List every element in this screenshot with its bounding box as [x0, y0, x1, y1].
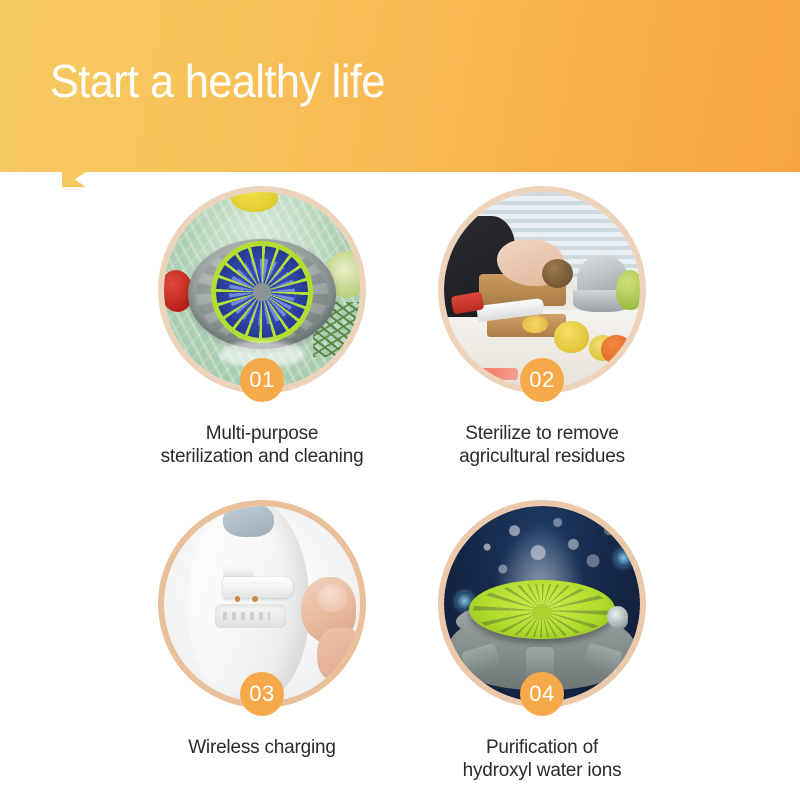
- feature-card-03[interactable]: 03 Wireless charging: [112, 500, 412, 759]
- caption-line-2: hydroxyl water ions: [392, 759, 692, 782]
- feature-caption-02: Sterilize to remove agricultural residue…: [392, 422, 692, 468]
- step-badge-02: 02: [520, 358, 564, 402]
- device-grey-cap: [223, 506, 274, 537]
- ion-particle-icon-2: [615, 549, 633, 567]
- thumbnail: [317, 584, 348, 611]
- feature-card-01[interactable]: 01 Multi-purpose sterilization and clean…: [112, 186, 412, 468]
- lemon-icon-a: [554, 321, 589, 352]
- feature-card-04[interactable]: 04 Purification of hydroxyl water ions: [392, 500, 692, 782]
- page-title: Start a healthy life: [50, 52, 385, 110]
- red-utensil: [475, 368, 518, 380]
- feature-caption-04: Purification of hydroxyl water ions: [392, 736, 692, 782]
- caption-line-1: Sterilize to remove: [465, 423, 619, 444]
- caption-line-1: Purification of: [486, 737, 598, 758]
- indicator-led: [607, 606, 629, 628]
- caption-line-2: agricultural residues: [392, 445, 692, 468]
- step-badge-03: 03: [240, 672, 284, 716]
- charging-plug: [223, 577, 294, 599]
- step-badge-01: 01: [240, 358, 284, 402]
- feature-photo-wrap-03: 03: [158, 500, 366, 708]
- pear-icon: [616, 270, 640, 309]
- citrus-slice-icon: [522, 316, 547, 334]
- feature-photo-wrap-02: 02: [438, 186, 646, 394]
- impeller-hub: [532, 604, 552, 620]
- feature-photo-wrap-01: 01: [158, 186, 366, 394]
- header-banner: Start a healthy life: [0, 0, 800, 172]
- feature-photo-wrap-04: 04: [438, 500, 646, 708]
- step-badge-04: 04: [520, 672, 564, 716]
- port-contacts: [223, 612, 270, 620]
- caption-line-1: Wireless charging: [188, 737, 336, 758]
- finger: [317, 628, 360, 683]
- feature-caption-03: Wireless charging: [112, 736, 412, 759]
- feature-card-02[interactable]: 02 Sterilize to remove agricultural resi…: [392, 186, 692, 468]
- impeller-hub: [253, 283, 271, 301]
- feature-caption-01: Multi-purpose sterilization and cleaning: [112, 422, 412, 468]
- caption-line-1: Multi-purpose: [206, 423, 319, 444]
- feature-grid: 01 Multi-purpose sterilization and clean…: [0, 186, 800, 800]
- caption-line-2: sterilization and cleaning: [112, 445, 412, 468]
